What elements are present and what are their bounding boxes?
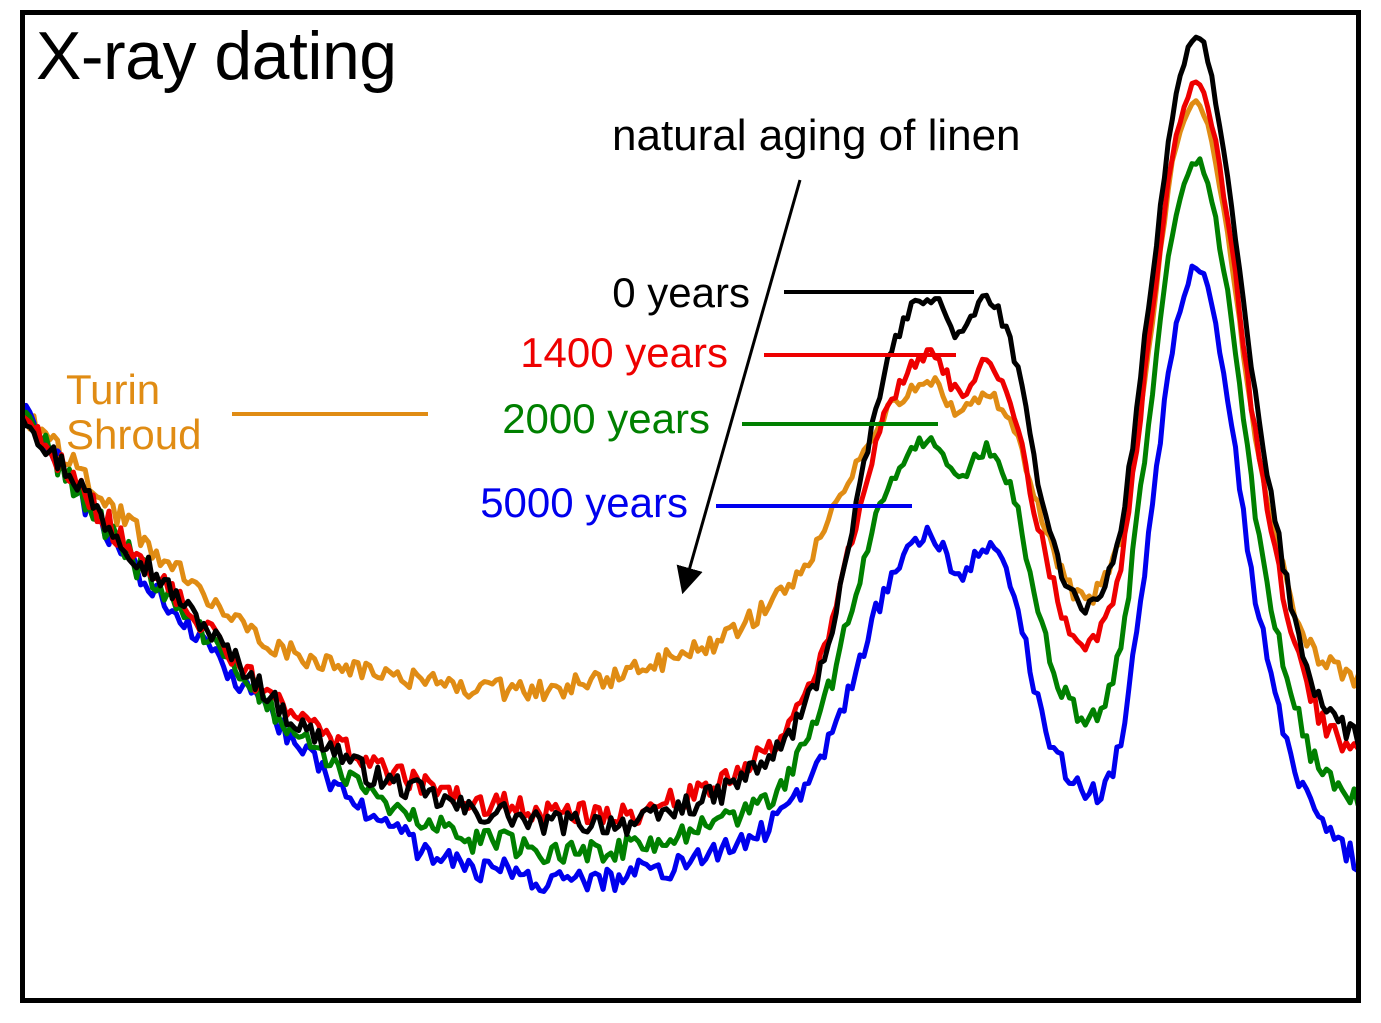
series-group (22, 37, 1362, 891)
page-title: X-ray dating (36, 22, 397, 90)
legend-label-1400-years: 1400 years (330, 332, 728, 374)
legend-label-turin-shroud: Turin Shroud (66, 368, 201, 458)
legend-label-5000-years: 5000 years (330, 482, 688, 524)
legend-label-turin-shroud-line2: Shroud (66, 413, 201, 458)
aging-direction-arrow (688, 180, 800, 574)
legend-label-turin-shroud-line1: Turin (66, 368, 201, 413)
annotation-natural-aging: natural aging of linen (612, 114, 1021, 158)
chart-figure: X-ray dating natural aging of linen 0 ye… (0, 0, 1381, 1023)
legend-label-2000-years: 2000 years (330, 398, 710, 440)
legend-label-0-years: 0 years (330, 272, 750, 314)
